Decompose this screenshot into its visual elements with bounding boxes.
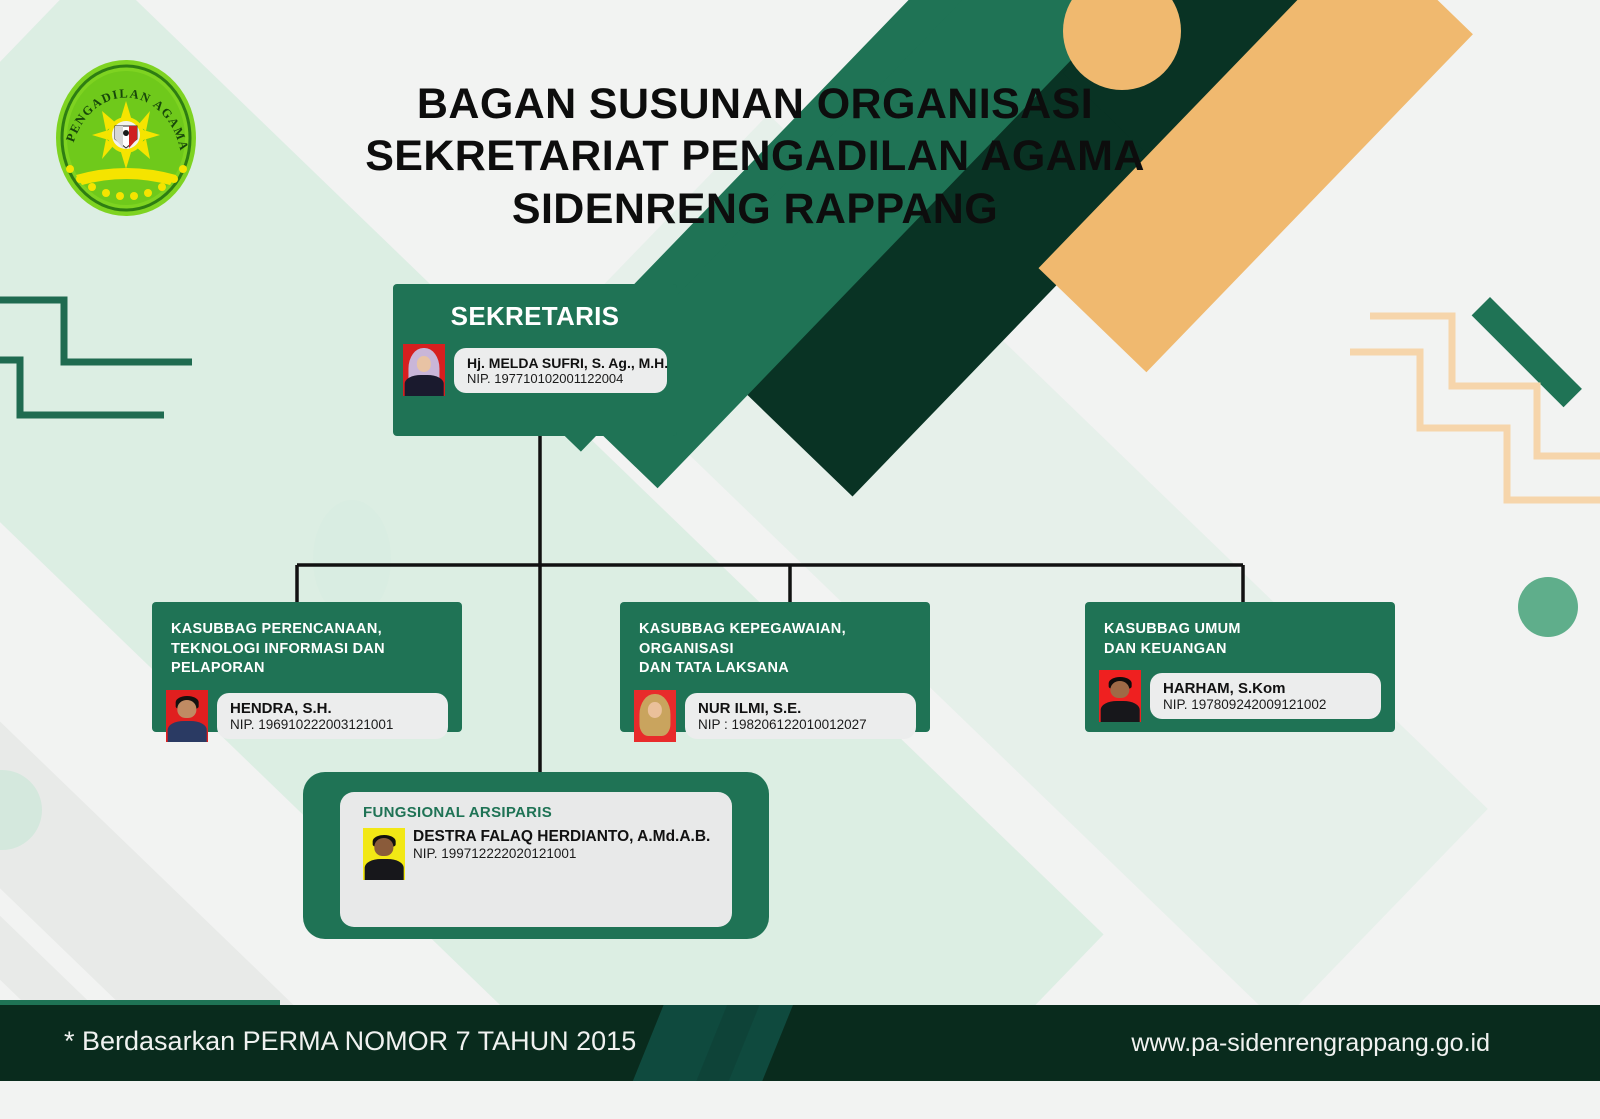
node-sekretaris-nip: NIP. 197710102001122004 bbox=[467, 371, 651, 386]
org-chart-connectors bbox=[0, 0, 1600, 1119]
node-kasubbag-kepegawaian-person: NUR ILMI, S.E. NIP : 198206122010012027 bbox=[634, 690, 916, 742]
node-fungsional-arsiparis-card: DESTRA FALAQ HERDIANTO, A.Md.A.B. NIP. 1… bbox=[413, 828, 729, 861]
footer-bottom-margin bbox=[0, 1081, 1600, 1119]
node-kasubbag-kepegawaian-nip: NIP : 198206122010012027 bbox=[698, 717, 900, 732]
portrait-melda-sufri bbox=[403, 344, 445, 396]
node-kasubbag-perencanaan[interactable]: KASUBBAG PERENCANAAN, TEKNOLOGI INFORMAS… bbox=[152, 602, 462, 732]
node-fungsional-arsiparis-name: DESTRA FALAQ HERDIANTO, A.Md.A.B. bbox=[413, 828, 729, 846]
node-kasubbag-perencanaan-nip: NIP. 196910222003121001 bbox=[230, 717, 432, 732]
organization-chart-poster: PENGADILAN AGAMA SIDRAP bbox=[0, 0, 1600, 1119]
node-kasubbag-perencanaan-name: HENDRA, S.H. bbox=[230, 700, 432, 717]
node-kasubbag-umum-person: HARHAM, S.Kom NIP. 197809242009121002 bbox=[1099, 670, 1381, 722]
node-fungsional-arsiparis[interactable]: FUNGSIONAL ARSIPARIS DESTRA FALAQ HERDIA… bbox=[303, 772, 769, 939]
node-kasubbag-umum-card: HARHAM, S.Kom NIP. 197809242009121002 bbox=[1150, 673, 1381, 719]
portrait-hendra bbox=[166, 690, 208, 742]
node-sekretaris[interactable]: SEKRETARIS Hj. MELDA SUFRI, S. Ag., M.H.… bbox=[393, 284, 677, 436]
role-line-1: KASUBBAG PERENCANAAN, bbox=[171, 620, 462, 640]
portrait-harham bbox=[1099, 670, 1141, 722]
node-fungsional-arsiparis-role: FUNGSIONAL ARSIPARIS bbox=[363, 804, 552, 821]
footer-bar: * Berdasarkan PERMA NOMOR 7 TAHUN 2015 w… bbox=[0, 1005, 1600, 1081]
node-fungsional-arsiparis-nip: NIP. 199712222020121001 bbox=[413, 846, 729, 861]
node-kasubbag-kepegawaian[interactable]: KASUBBAG KEPEGAWAIAN, ORGANISASI DAN TAT… bbox=[620, 602, 930, 732]
node-kasubbag-umum-name: HARHAM, S.Kom bbox=[1163, 680, 1365, 697]
node-kasubbag-perencanaan-role: KASUBBAG PERENCANAAN, TEKNOLOGI INFORMAS… bbox=[171, 620, 462, 679]
node-kasubbag-perencanaan-card: HENDRA, S.H. NIP. 196910222003121001 bbox=[217, 693, 448, 739]
footer-url[interactable]: www.pa-sidenrengrappang.go.id bbox=[1131, 1029, 1490, 1058]
node-kasubbag-umum[interactable]: KASUBBAG UMUM DAN KEUANGAN HARHAM, S.Kom… bbox=[1085, 602, 1395, 732]
node-sekretaris-card: Hj. MELDA SUFRI, S. Ag., M.H. NIP. 19771… bbox=[454, 348, 667, 393]
role-line-1: KASUBBAG UMUM bbox=[1104, 620, 1395, 640]
node-kasubbag-umum-role: KASUBBAG UMUM DAN KEUANGAN bbox=[1104, 620, 1395, 659]
role-line-1: KASUBBAG KEPEGAWAIAN, ORGANISASI bbox=[639, 620, 930, 659]
node-sekretaris-name: Hj. MELDA SUFRI, S. Ag., M.H. bbox=[467, 355, 651, 371]
portrait-destra-falaq-herdianto bbox=[363, 828, 405, 880]
node-sekretaris-person: Hj. MELDA SUFRI, S. Ag., M.H. NIP. 19771… bbox=[403, 344, 667, 396]
footer-note: * Berdasarkan PERMA NOMOR 7 TAHUN 2015 bbox=[64, 1026, 636, 1057]
role-line-2: DAN KEUANGAN bbox=[1104, 640, 1395, 660]
node-sekretaris-role: SEKRETARIS bbox=[393, 301, 677, 332]
node-fungsional-arsiparis-person: DESTRA FALAQ HERDIANTO, A.Md.A.B. NIP. 1… bbox=[363, 828, 729, 880]
role-line-2: TEKNOLOGI INFORMASI DAN PELAPORAN bbox=[171, 640, 462, 679]
role-line-2: DAN TATA LAKSANA bbox=[639, 659, 930, 679]
node-kasubbag-umum-nip: NIP. 197809242009121002 bbox=[1163, 697, 1365, 712]
node-kasubbag-perencanaan-person: HENDRA, S.H. NIP. 196910222003121001 bbox=[166, 690, 448, 742]
node-kasubbag-kepegawaian-role: KASUBBAG KEPEGAWAIAN, ORGANISASI DAN TAT… bbox=[639, 620, 930, 679]
portrait-nur-ilmi bbox=[634, 690, 676, 742]
node-kasubbag-kepegawaian-card: NUR ILMI, S.E. NIP : 198206122010012027 bbox=[685, 693, 916, 739]
node-kasubbag-kepegawaian-name: NUR ILMI, S.E. bbox=[698, 700, 900, 717]
